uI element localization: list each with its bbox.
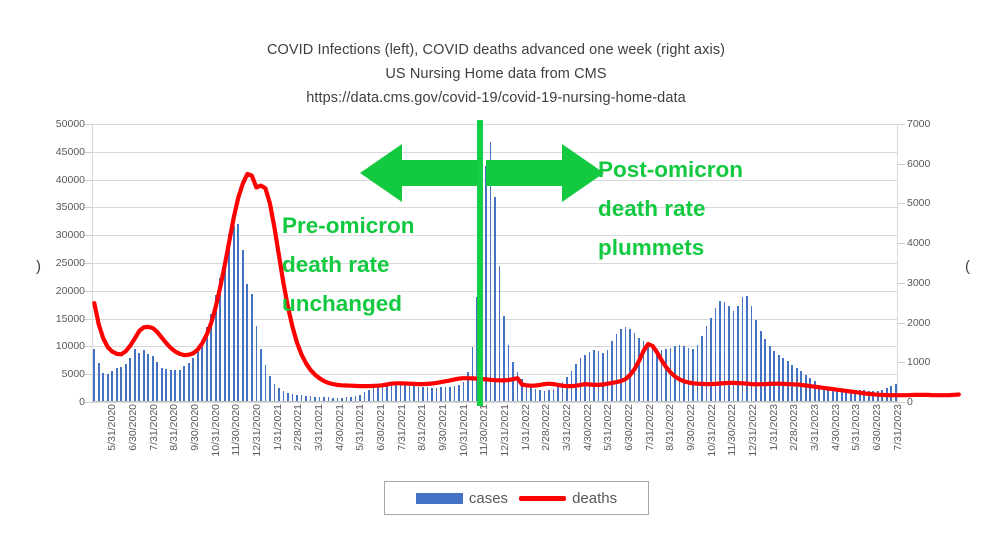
left-axis-tick-label: 45000 [56, 146, 85, 158]
x-axis-tick-label: 2/28/2021 [292, 404, 304, 451]
right-arrow-icon [486, 142, 604, 204]
legend-item-deaths[interactable]: deaths [519, 490, 617, 507]
annotation-post-line-3: plummets [598, 228, 743, 267]
x-axis-tick-label: 8/31/2021 [416, 404, 428, 451]
left-axis-tickmark [85, 402, 92, 403]
annotation-post-line-2: death rate [598, 189, 743, 228]
x-axis-tick-label: 9/30/2022 [685, 404, 697, 451]
right-axis-tick-label: 4000 [907, 237, 930, 249]
x-axis-tick-label: 6/30/2020 [127, 404, 139, 451]
x-axis-tick-label: 11/30/2022 [726, 404, 738, 456]
x-axis-tick-label: 3/31/2022 [561, 404, 573, 451]
x-axis-tick-label: 5/31/2021 [354, 404, 366, 451]
x-axis-tick-label: 8/31/2020 [168, 404, 180, 451]
x-axis-tick-label: 2/28/2023 [788, 404, 800, 451]
x-axis-tick-label: 5/31/2023 [850, 404, 862, 451]
x-axis-tick-label: 3/31/2021 [313, 404, 325, 451]
left-axis-tickmark [85, 235, 92, 236]
right-axis-tickmark [898, 323, 905, 324]
x-axis-tick-label: 6/30/2023 [871, 404, 883, 451]
left-axis-tickmark [85, 207, 92, 208]
left-axis-title-glyph: ) [36, 258, 41, 275]
left-axis-tick-label: 10000 [56, 340, 85, 352]
x-axis-tick-label: 11/30/2021 [478, 404, 490, 456]
x-axis-tick-label: 11/30/2020 [230, 404, 242, 456]
x-axis-tick-label: 12/31/2021 [499, 404, 511, 457]
chart-title-block: COVID Infections (left), COVID deaths ad… [0, 38, 992, 110]
x-axis-tick-label: 12/31/2020 [251, 404, 263, 457]
x-axis-tick-label: 1/31/2022 [520, 404, 532, 451]
right-axis-title-glyph: ( [965, 258, 970, 275]
left-axis-tick-label: 40000 [56, 174, 85, 186]
left-axis-tickmark [85, 152, 92, 153]
x-axis-tick-label: 9/30/2021 [437, 404, 449, 451]
annotation-post-line-1: Post-omicron [598, 150, 743, 189]
x-axis-tick-label: 3/31/2023 [809, 404, 821, 451]
right-axis-tickmark [898, 283, 905, 284]
x-axis-tick-label: 1/31/2021 [272, 404, 284, 451]
x-axis-tick-label: 5/31/2022 [602, 404, 614, 451]
annotation-post-omicron: Post-omicron death rate plummets [598, 150, 743, 267]
left-arrow-icon [360, 142, 478, 204]
x-axis-tick-label: 8/31/2022 [664, 404, 676, 451]
chart-title-line-3: https://data.cms.gov/covid-19/covid-19-n… [0, 86, 992, 110]
annotation-pre-line-1: Pre-omicron [282, 206, 415, 245]
left-axis-tick-label: 30000 [56, 229, 85, 241]
x-axis-tick-label: 10/31/2021 [458, 404, 470, 457]
left-axis-tickmark [85, 374, 92, 375]
right-axis-tick-label: 0 [907, 396, 913, 408]
legend-item-cases[interactable]: cases [416, 490, 508, 507]
x-axis-tick-label: 4/30/2021 [334, 404, 346, 451]
right-axis-tick-label: 3000 [907, 277, 930, 289]
legend-swatch-deaths-icon [519, 496, 566, 501]
left-axis-tick-label: 15000 [56, 313, 85, 325]
left-axis-tick-label: 50000 [56, 118, 85, 130]
right-axis-tickmark [898, 124, 905, 125]
left-axis-tickmark [85, 124, 92, 125]
left-axis-tickmark [85, 346, 92, 347]
legend-swatch-cases-icon [416, 493, 463, 504]
x-axis-tick-label: 10/31/2020 [210, 404, 222, 457]
chart-container: COVID Infections (left), COVID deaths ad… [0, 0, 992, 540]
right-axis-tickmark [898, 243, 905, 244]
left-axis-tickmark [85, 291, 92, 292]
x-axis-tick-label: 7/31/2022 [644, 404, 656, 451]
x-axis-tick-label: 7/31/2021 [396, 404, 408, 451]
x-axis-tick-label: 4/30/2023 [830, 404, 842, 451]
annotation-pre-line-2: death rate [282, 245, 415, 284]
x-axis-tick-label: 1/31/2023 [768, 404, 780, 451]
x-axis-tick-label: 6/30/2022 [623, 404, 635, 451]
x-axis-tick-label: 2/28/2022 [540, 404, 552, 451]
legend-label-deaths: deaths [572, 490, 617, 507]
left-axis-tick-label: 35000 [56, 201, 85, 213]
annotation-pre-omicron: Pre-omicron death rate unchanged [282, 206, 415, 323]
right-axis-tickmark [898, 362, 905, 363]
x-axis-tick-label: 4/30/2022 [582, 404, 594, 451]
legend-label-cases: cases [469, 490, 508, 507]
x-axis-tick-label: 6/30/2021 [375, 404, 387, 451]
x-axis-labels: 5/31/20206/30/20207/31/20208/31/20209/30… [92, 404, 898, 470]
x-axis-tick-label: 7/31/2023 [892, 404, 904, 451]
x-axis-tick-label: 12/31/2022 [747, 404, 759, 457]
chart-title-line-1: COVID Infections (left), COVID deaths ad… [0, 38, 992, 62]
left-axis-tick-label: 25000 [56, 257, 85, 269]
left-axis-tick-label: 5000 [62, 368, 85, 380]
x-axis-tick-label: 5/31/2020 [106, 404, 118, 451]
right-axis-tick-label: 2000 [907, 317, 930, 329]
right-axis-tick-label: 5000 [907, 197, 930, 209]
left-axis-tickmark [85, 319, 92, 320]
left-axis-tickmark [85, 263, 92, 264]
right-axis-tickmark [898, 203, 905, 204]
annotation-pre-line-3: unchanged [282, 284, 415, 323]
x-axis-tick-label: 9/30/2020 [189, 404, 201, 451]
right-axis-tick-label: 1000 [907, 356, 930, 368]
chart-legend: cases deaths [384, 481, 649, 515]
right-axis-tick-label: 7000 [907, 118, 930, 130]
right-axis-tick-label: 6000 [907, 158, 930, 170]
x-axis-tick-label: 10/31/2022 [706, 404, 718, 457]
chart-title-line-2: US Nursing Home data from CMS [0, 62, 992, 86]
left-axis-tickmark [85, 180, 92, 181]
left-axis-tick-label: 20000 [56, 285, 85, 297]
right-axis-tickmark [898, 164, 905, 165]
x-axis-line [92, 401, 898, 402]
x-axis-tick-label: 7/31/2020 [148, 404, 160, 451]
